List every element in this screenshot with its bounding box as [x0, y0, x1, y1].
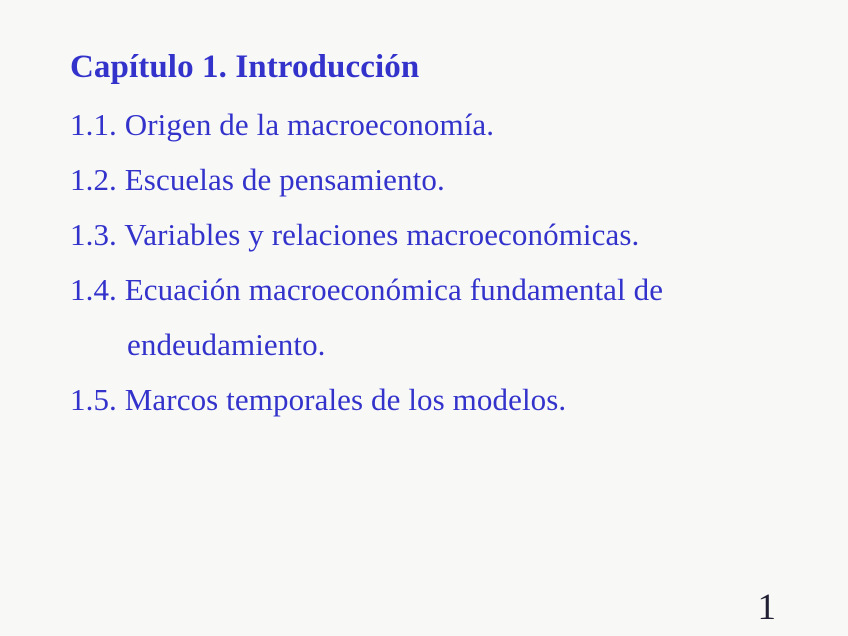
list-item-label: Marcos temporales de los modelos.: [125, 382, 567, 417]
list-item-label: Escuelas de pensamiento.: [125, 162, 445, 197]
list-item-number: 1.4.: [70, 272, 117, 307]
slide-content: Capítulo 1. Introducción 1.1. Origen de …: [70, 46, 810, 427]
list-item-label: Ecuación macroeconómica fundamental de e…: [125, 272, 663, 362]
agenda-list: 1.1. Origen de la macroeconomía. 1.2. Es…: [70, 97, 810, 427]
slide-canvas: Capítulo 1. Introducción 1.1. Origen de …: [0, 0, 848, 636]
page-number: 1: [758, 588, 777, 628]
list-item: 1.3. Variables y relaciones macroeconómi…: [70, 207, 810, 262]
list-item-number: 1.2.: [70, 162, 117, 197]
list-item-label: Variables y relaciones macroeconómicas.: [124, 217, 639, 252]
list-item: 1.1. Origen de la macroeconomía.: [70, 97, 810, 152]
list-item-number: 1.3.: [70, 217, 117, 252]
list-item: 1.5. Marcos temporales de los modelos.: [70, 372, 810, 427]
list-item-number: 1.1.: [70, 107, 117, 142]
page-title: Capítulo 1. Introducción: [70, 46, 810, 88]
list-item: 1.2. Escuelas de pensamiento.: [70, 152, 810, 207]
list-item: 1.4. Ecuación macroeconómica fundamental…: [70, 262, 810, 372]
list-item-number: 1.5.: [70, 382, 117, 417]
list-item-label: Origen de la macroeconomía.: [125, 107, 494, 142]
